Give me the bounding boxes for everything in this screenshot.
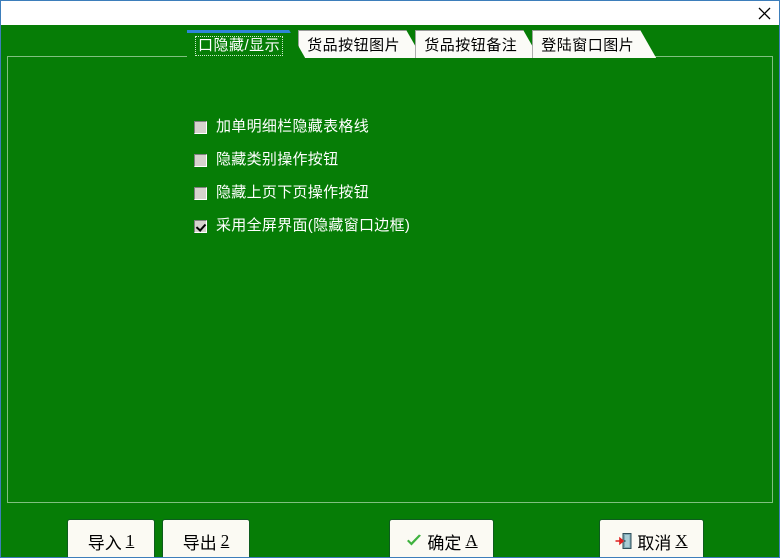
tab-label: 货品按钮备注 — [424, 34, 517, 55]
title-bar — [1, 1, 780, 25]
checkbox-box[interactable] — [194, 154, 207, 167]
tab-label: 口隐藏/显示 — [195, 36, 283, 56]
tab-goods-button-image[interactable]: 货品按钮图片 — [298, 30, 422, 58]
tab-login-window-image[interactable]: 登陆窗口图片 — [532, 30, 656, 58]
ok-button[interactable]: 确定A — [389, 519, 494, 558]
checkbox-box[interactable] — [194, 121, 207, 134]
checkbox-hide-pagination-buttons[interactable]: 隐藏上页下页操作按钮 — [194, 183, 410, 203]
cancel-button-label: 取消 — [637, 529, 671, 554]
export-button-label: 导出 — [183, 529, 217, 554]
checkbox-box-checked[interactable] — [194, 220, 207, 233]
export-button-accel: 2 — [221, 531, 230, 551]
cancel-button-accel: X — [675, 531, 687, 551]
exit-door-icon — [615, 532, 633, 550]
checkbox-fullscreen-mode[interactable]: 采用全屏界面(隐藏窗口边框) — [194, 216, 410, 236]
checkbox-hide-category-buttons[interactable]: 隐藏类别操作按钮 — [194, 150, 410, 170]
tab-hide-show[interactable]: 口隐藏/显示 — [187, 30, 305, 58]
tab-goods-button-note[interactable]: 货品按钮备注 — [415, 30, 539, 58]
checkbox-label: 隐藏类别操作按钮 — [216, 151, 338, 169]
settings-window: 加单明细栏隐藏表格线 隐藏类别操作按钮 隐藏上页下页操作按钮 采用全屏界面(隐藏… — [0, 0, 780, 558]
options-list: 加单明细栏隐藏表格线 隐藏类别操作按钮 隐藏上页下页操作按钮 采用全屏界面(隐藏… — [194, 117, 410, 249]
close-window-button[interactable] — [751, 3, 777, 23]
ok-button-label: 确定 — [427, 529, 461, 554]
export-button[interactable]: 导出2 — [162, 519, 250, 558]
ok-button-accel: A — [465, 531, 477, 551]
checkbox-label: 隐藏上页下页操作按钮 — [216, 184, 369, 202]
tab-label: 货品按钮图片 — [307, 34, 400, 55]
tab-content-panel: 加单明细栏隐藏表格线 隐藏类别操作按钮 隐藏上页下页操作按钮 采用全屏界面(隐藏… — [7, 56, 773, 503]
green-check-icon — [405, 532, 423, 550]
import-button-label: 导入 — [88, 529, 122, 554]
checkbox-label: 加单明细栏隐藏表格线 — [216, 118, 369, 136]
tab-label: 登陆窗口图片 — [541, 34, 634, 55]
import-button-accel: 1 — [126, 531, 135, 551]
cancel-button[interactable]: 取消X — [599, 519, 704, 558]
tab-strip: 口隐藏/显示 货品按钮图片 货品按钮备注 登陆窗口图片 — [187, 29, 649, 58]
close-icon — [758, 7, 771, 20]
import-button[interactable]: 导入1 — [67, 519, 155, 558]
checkbox-hide-grid-lines[interactable]: 加单明细栏隐藏表格线 — [194, 117, 410, 137]
checkbox-label: 采用全屏界面(隐藏窗口边框) — [216, 217, 410, 235]
window-body: 加单明细栏隐藏表格线 隐藏类别操作按钮 隐藏上页下页操作按钮 采用全屏界面(隐藏… — [1, 25, 779, 557]
checkbox-box[interactable] — [194, 187, 207, 200]
